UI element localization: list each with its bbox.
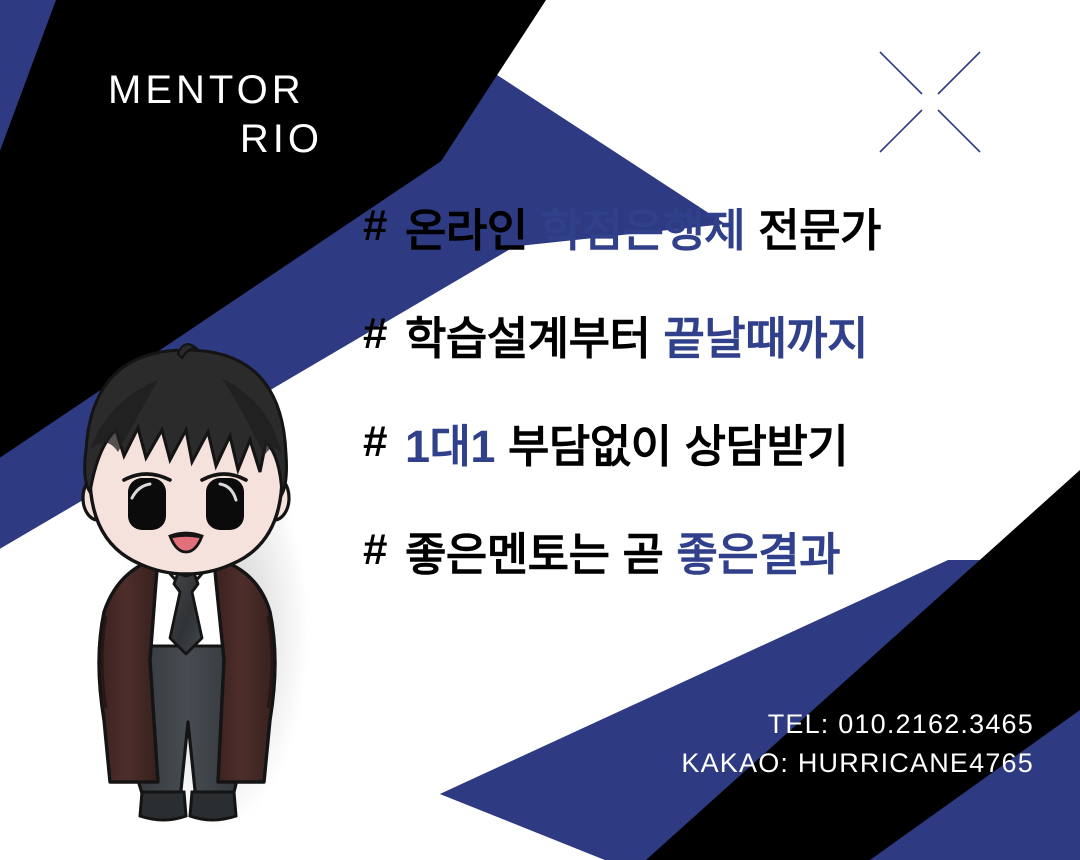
headline-accent-text: 학점은행제 — [541, 194, 746, 259]
headline-accent-text: 1대1 — [405, 410, 495, 475]
contact-tel[interactable]: TEL: 010.2162.3465 — [681, 705, 1034, 744]
headline-text: 전문가 — [758, 194, 881, 259]
brand-logo: MENTOR RIO — [108, 66, 323, 164]
headline-text: 곧 — [623, 518, 664, 583]
headline-text: 학습설계부터 — [405, 302, 650, 367]
hash-icon: # — [363, 417, 387, 467]
headline-accent-text: 끝날때까지 — [663, 302, 868, 367]
headline-row: #학습설계부터끝날때까지 — [363, 280, 1043, 388]
promo-card: MENTOR RIO #온라인학점은행제전문가#학습설계부터끝날때까지#1대1부… — [0, 0, 1080, 860]
chibi-mentor-avatar — [46, 330, 326, 840]
contact-kakao[interactable]: KAKAO: HURRICANE4765 — [681, 744, 1034, 783]
x-cross-decoration-icon — [876, 48, 984, 156]
headline-text: 좋은멘토는 — [405, 518, 610, 583]
headline-row: #온라인학점은행제전문가 — [363, 172, 1043, 280]
headline-text: 온라인 — [405, 194, 528, 259]
headline-text: 상담받기 — [685, 410, 849, 475]
brand-logo-line-2: RIO — [108, 115, 323, 164]
hash-icon: # — [363, 201, 387, 251]
brand-logo-line-1: MENTOR — [108, 66, 323, 115]
hash-icon: # — [363, 525, 387, 575]
headline-row: #좋은멘토는곧좋은결과 — [363, 496, 1043, 604]
headline-text: 부담없이 — [508, 410, 672, 475]
headline-accent-text: 좋은결과 — [676, 518, 840, 583]
headline-list: #온라인학점은행제전문가#학습설계부터끝날때까지#1대1부담없이상담받기#좋은멘… — [363, 172, 1043, 604]
hash-icon: # — [363, 309, 387, 359]
contact-block: TEL: 010.2162.3465 KAKAO: HURRICANE4765 — [681, 705, 1034, 783]
headline-row: #1대1부담없이상담받기 — [363, 388, 1043, 496]
